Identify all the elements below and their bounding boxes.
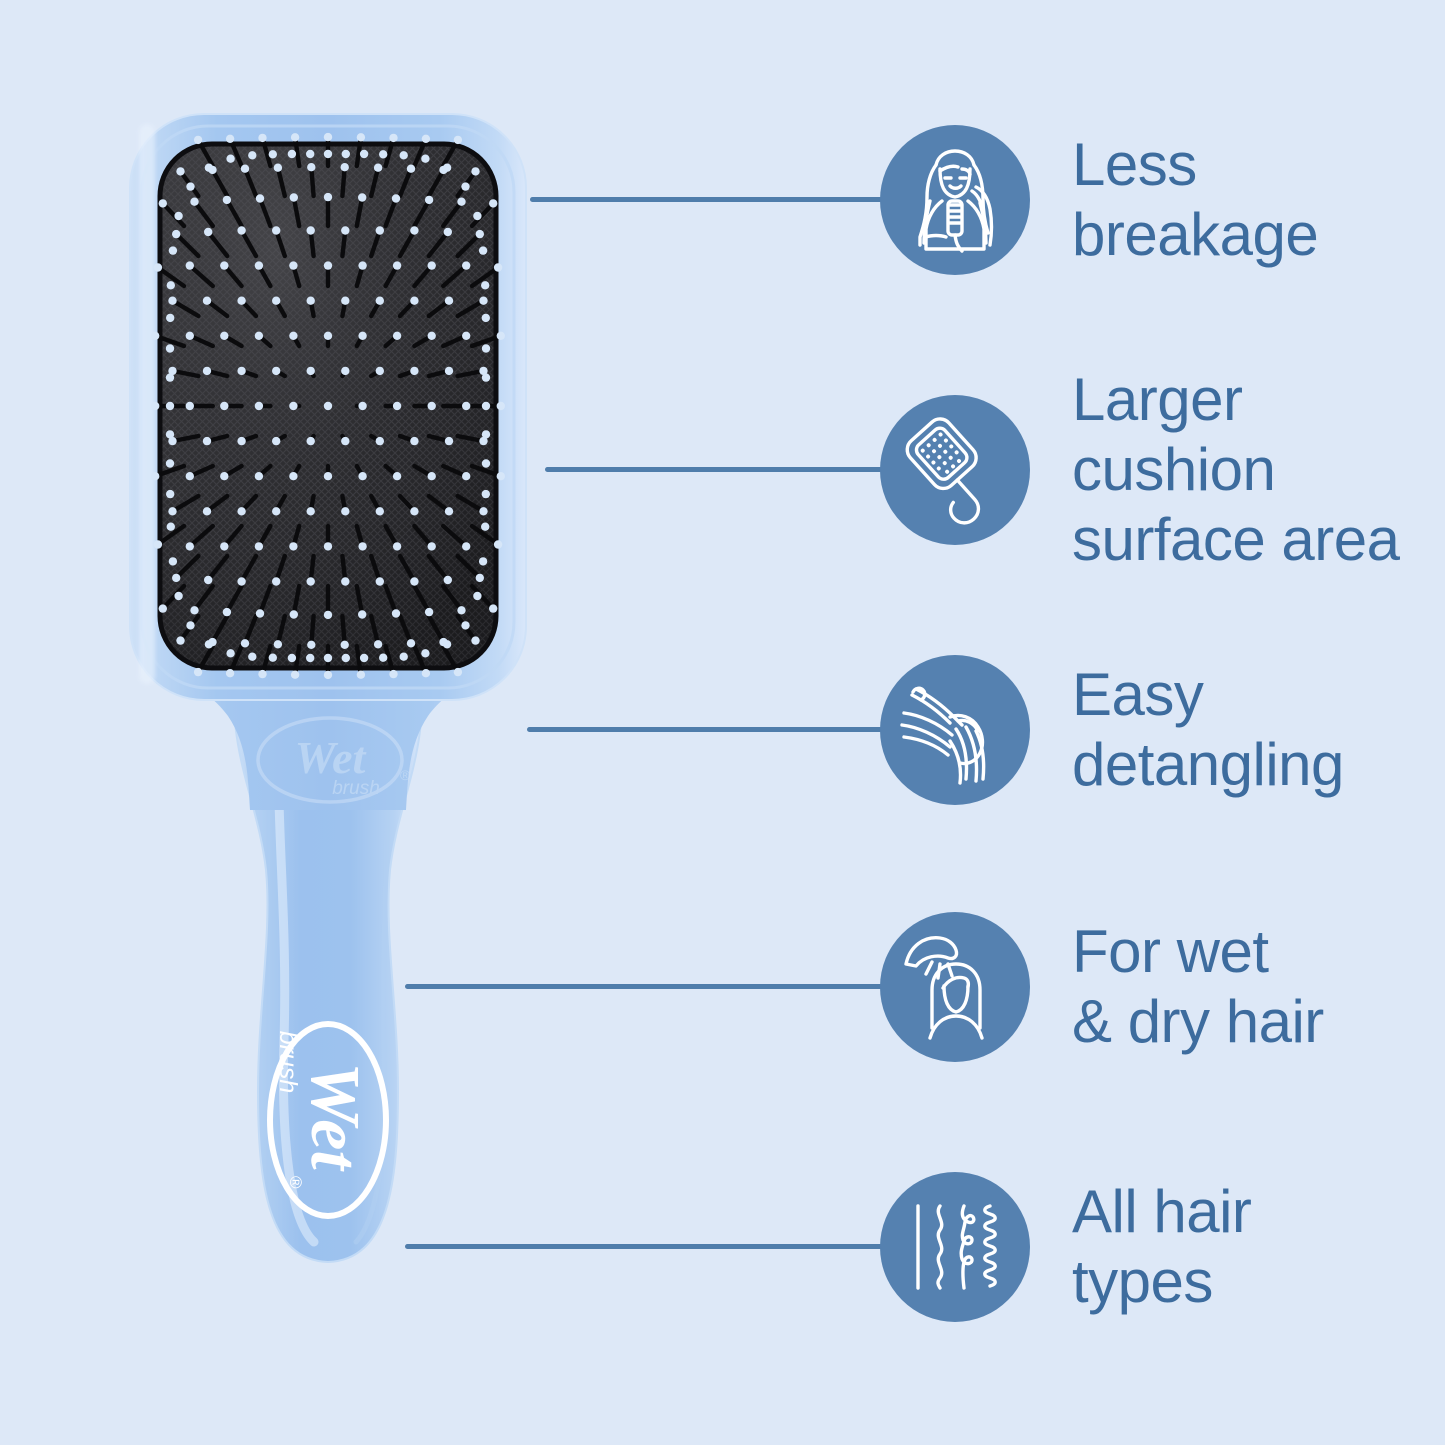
hair-types-icon [880,1172,1030,1322]
hand-detangling-hair-icon [880,655,1030,805]
feature-row-less-breakage: Less breakage [0,125,1445,275]
feature-row-all-hair-types: All hair types [0,1172,1445,1322]
icon-badge-less-breakage [880,125,1030,275]
shower-head-woman-icon [880,912,1030,1062]
curly-hair-line [961,1206,974,1288]
feature-label-all-hair-types: All hair types [1072,1177,1432,1317]
infographic-canvas: Wet brush ® Wet brush ® [0,0,1445,1445]
icon-badge-all-hair-types [880,1172,1030,1322]
handle-logo-wet: Wet [296,1062,373,1172]
connector-line-larger-cushion [545,467,885,472]
icon-badge-wet-dry-hair [880,912,1030,1062]
feature-label-less-breakage: Less breakage [1072,130,1432,270]
connector-line-easy-detangling [527,727,885,732]
connector-line-wet-dry-hair [405,984,885,989]
coily-hair-line [985,1206,996,1286]
connector-line-all-hair-types [405,1244,885,1249]
connector-line-less-breakage [530,197,885,202]
feature-label-larger-cushion: Larger cushion surface area [1072,365,1432,575]
icon-badge-larger-cushion [880,395,1030,545]
paddle-brush-icon [880,395,1030,545]
feature-row-wet-dry-hair: For wet & dry hair [0,912,1445,1062]
feature-label-wet-dry-hair: For wet & dry hair [1072,917,1432,1057]
feature-row-easy-detangling: Easy detangling [0,655,1445,805]
feature-row-larger-cushion: Larger cushion surface area [0,395,1445,545]
icon-badge-easy-detangling [880,655,1030,805]
wavy-hair-line [938,1206,942,1288]
woman-brushing-hair-icon [880,125,1030,275]
feature-label-easy-detangling: Easy detangling [1072,660,1432,800]
